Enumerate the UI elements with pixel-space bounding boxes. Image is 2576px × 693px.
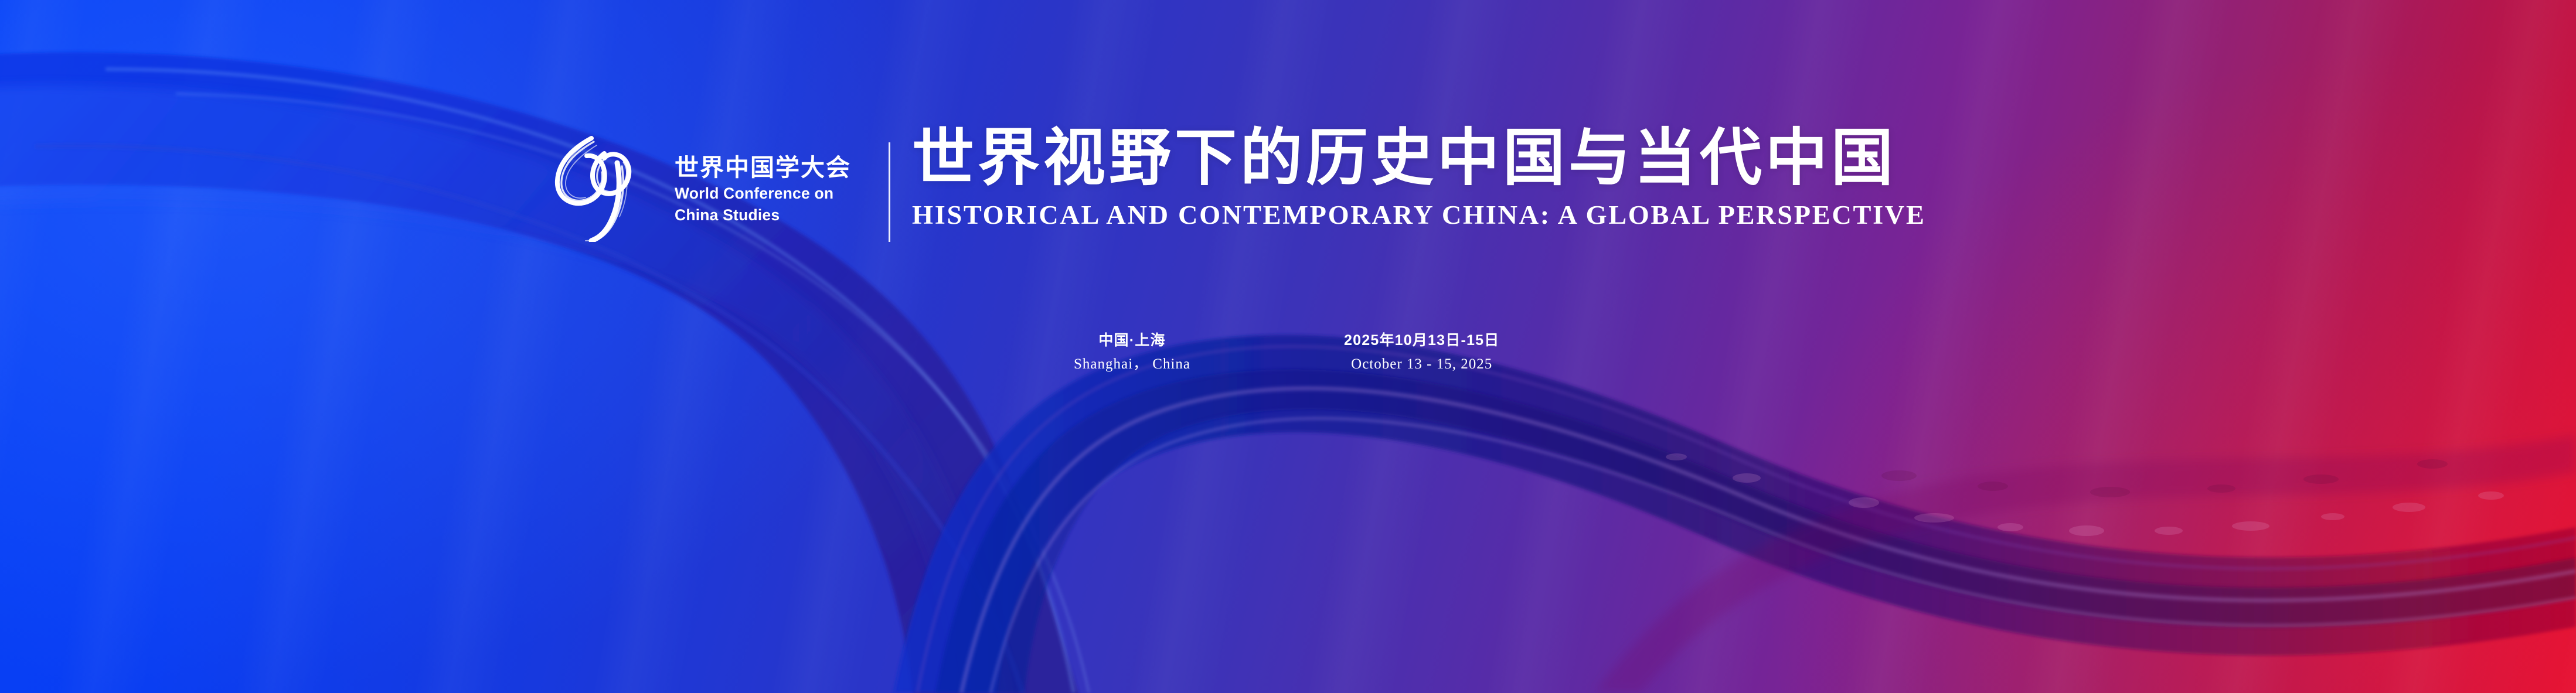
title-block: 世界视野下的历史中国与当代中国 HISTORICAL AND CONTEMPOR…	[912, 124, 1897, 230]
event-meta-row: 中国·上海 Shanghai， China 2025年10月13日-15日 Oc…	[1074, 331, 1499, 374]
event-location: 中国·上海 Shanghai， China	[1074, 331, 1190, 374]
logo-title-divider	[889, 142, 890, 242]
calligraphy-brush-logo-icon	[548, 128, 659, 242]
logo-english-line-2: China Studies	[675, 206, 851, 225]
location-english: Shanghai， China	[1074, 354, 1190, 374]
date-english: October 13 - 15, 2025	[1344, 354, 1499, 374]
logo-chinese-name: 世界中国学大会	[675, 155, 851, 182]
logo-english-line-1: World Conference on	[675, 184, 851, 203]
conference-banner: 世界中国学大会 World Conference on China Studie…	[0, 0, 2576, 693]
location-chinese: 中国·上海	[1074, 331, 1190, 351]
logo-wordmark: 世界中国学大会 World Conference on China Studie…	[675, 144, 851, 225]
conference-logo[interactable]: 世界中国学大会 World Conference on China Studie…	[548, 128, 851, 242]
conference-title-english: HISTORICAL AND CONTEMPORARY CHINA: A GLO…	[912, 201, 1926, 230]
date-chinese: 2025年10月13日-15日	[1344, 331, 1499, 351]
conference-title-chinese: 世界视野下的历史中国与当代中国	[912, 124, 1897, 194]
event-date: 2025年10月13日-15日 October 13 - 15, 2025	[1344, 331, 1499, 374]
